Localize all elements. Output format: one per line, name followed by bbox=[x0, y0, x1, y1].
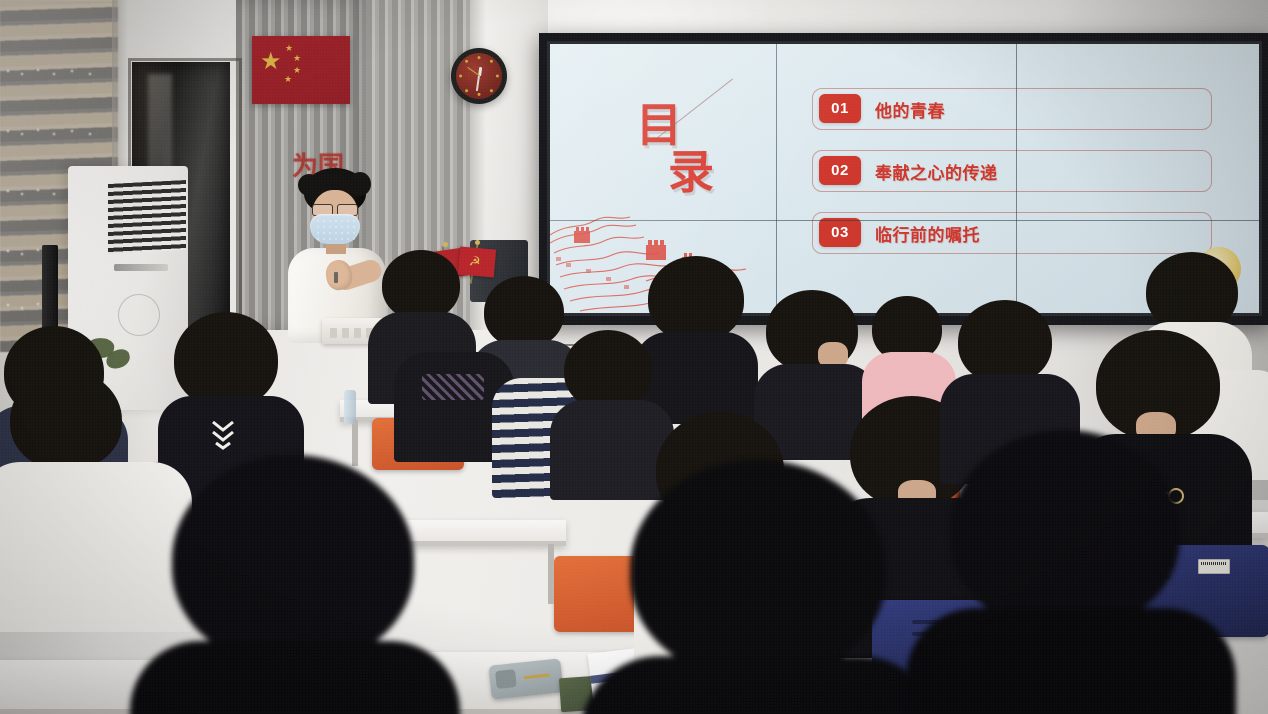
photo-scene: ★ ★ ★ ★ ★ 为国 bbox=[0, 0, 1268, 714]
presenter-face-mask bbox=[310, 214, 360, 244]
ac-dial bbox=[118, 294, 160, 336]
shirt-chevron-logo bbox=[210, 418, 236, 452]
clock-face bbox=[456, 53, 502, 99]
agenda-label-3: 临行前的嘱托 bbox=[875, 221, 980, 246]
flag-star-small-4: ★ bbox=[284, 75, 292, 84]
national-flag: ★ ★ ★ ★ ★ bbox=[252, 36, 350, 104]
slide-title-char-1: 目 bbox=[636, 98, 683, 152]
agenda-item-2[interactable]: 02 奉献之心的传递 bbox=[812, 150, 1212, 192]
student-foreground-left bbox=[160, 455, 440, 714]
phone-camera-module bbox=[495, 669, 517, 689]
student-foreground-right bbox=[930, 430, 1220, 714]
agenda-item-1[interactable]: 01 他的青春 bbox=[812, 88, 1212, 130]
ac-brand-logo bbox=[114, 264, 168, 271]
wall-clock bbox=[451, 48, 507, 104]
flag-star-small-1: ★ bbox=[285, 44, 293, 53]
slide-title-char-2: 录 bbox=[668, 149, 715, 196]
student-white-shirt-left bbox=[0, 370, 180, 620]
agenda-number-2: 02 bbox=[819, 156, 861, 185]
flag-star-small-3: ★ bbox=[293, 66, 301, 75]
presenter-glasses bbox=[311, 204, 359, 214]
panel-seam-vertical-2 bbox=[1016, 44, 1017, 313]
slide-title: 目 录 bbox=[636, 102, 715, 196]
ac-vent-grille bbox=[108, 180, 186, 254]
agenda-number-1: 01 bbox=[819, 94, 861, 123]
student-foreground-center bbox=[600, 460, 930, 714]
panel-seam-horizontal bbox=[550, 220, 1259, 221]
phone-accent-stripe bbox=[524, 674, 550, 680]
flag-star-small-2: ★ bbox=[293, 54, 301, 63]
party-emblem-icon: ☭ bbox=[469, 254, 482, 268]
panel-seam-vertical-1 bbox=[776, 44, 777, 313]
presenter-pen bbox=[334, 272, 338, 283]
agenda-label-2: 奉献之心的传递 bbox=[875, 159, 998, 184]
agenda-list: 01 他的青春 02 奉献之心的传递 03 临行前的嘱托 bbox=[812, 88, 1212, 274]
agenda-label-1: 他的青春 bbox=[875, 97, 945, 122]
agenda-number-3: 03 bbox=[819, 218, 861, 247]
water-bottle[interactable] bbox=[344, 390, 356, 424]
shirt-graphic-print bbox=[422, 374, 484, 400]
flag-star-large: ★ bbox=[260, 50, 282, 74]
agenda-item-3[interactable]: 03 临行前的嘱托 bbox=[812, 212, 1212, 254]
